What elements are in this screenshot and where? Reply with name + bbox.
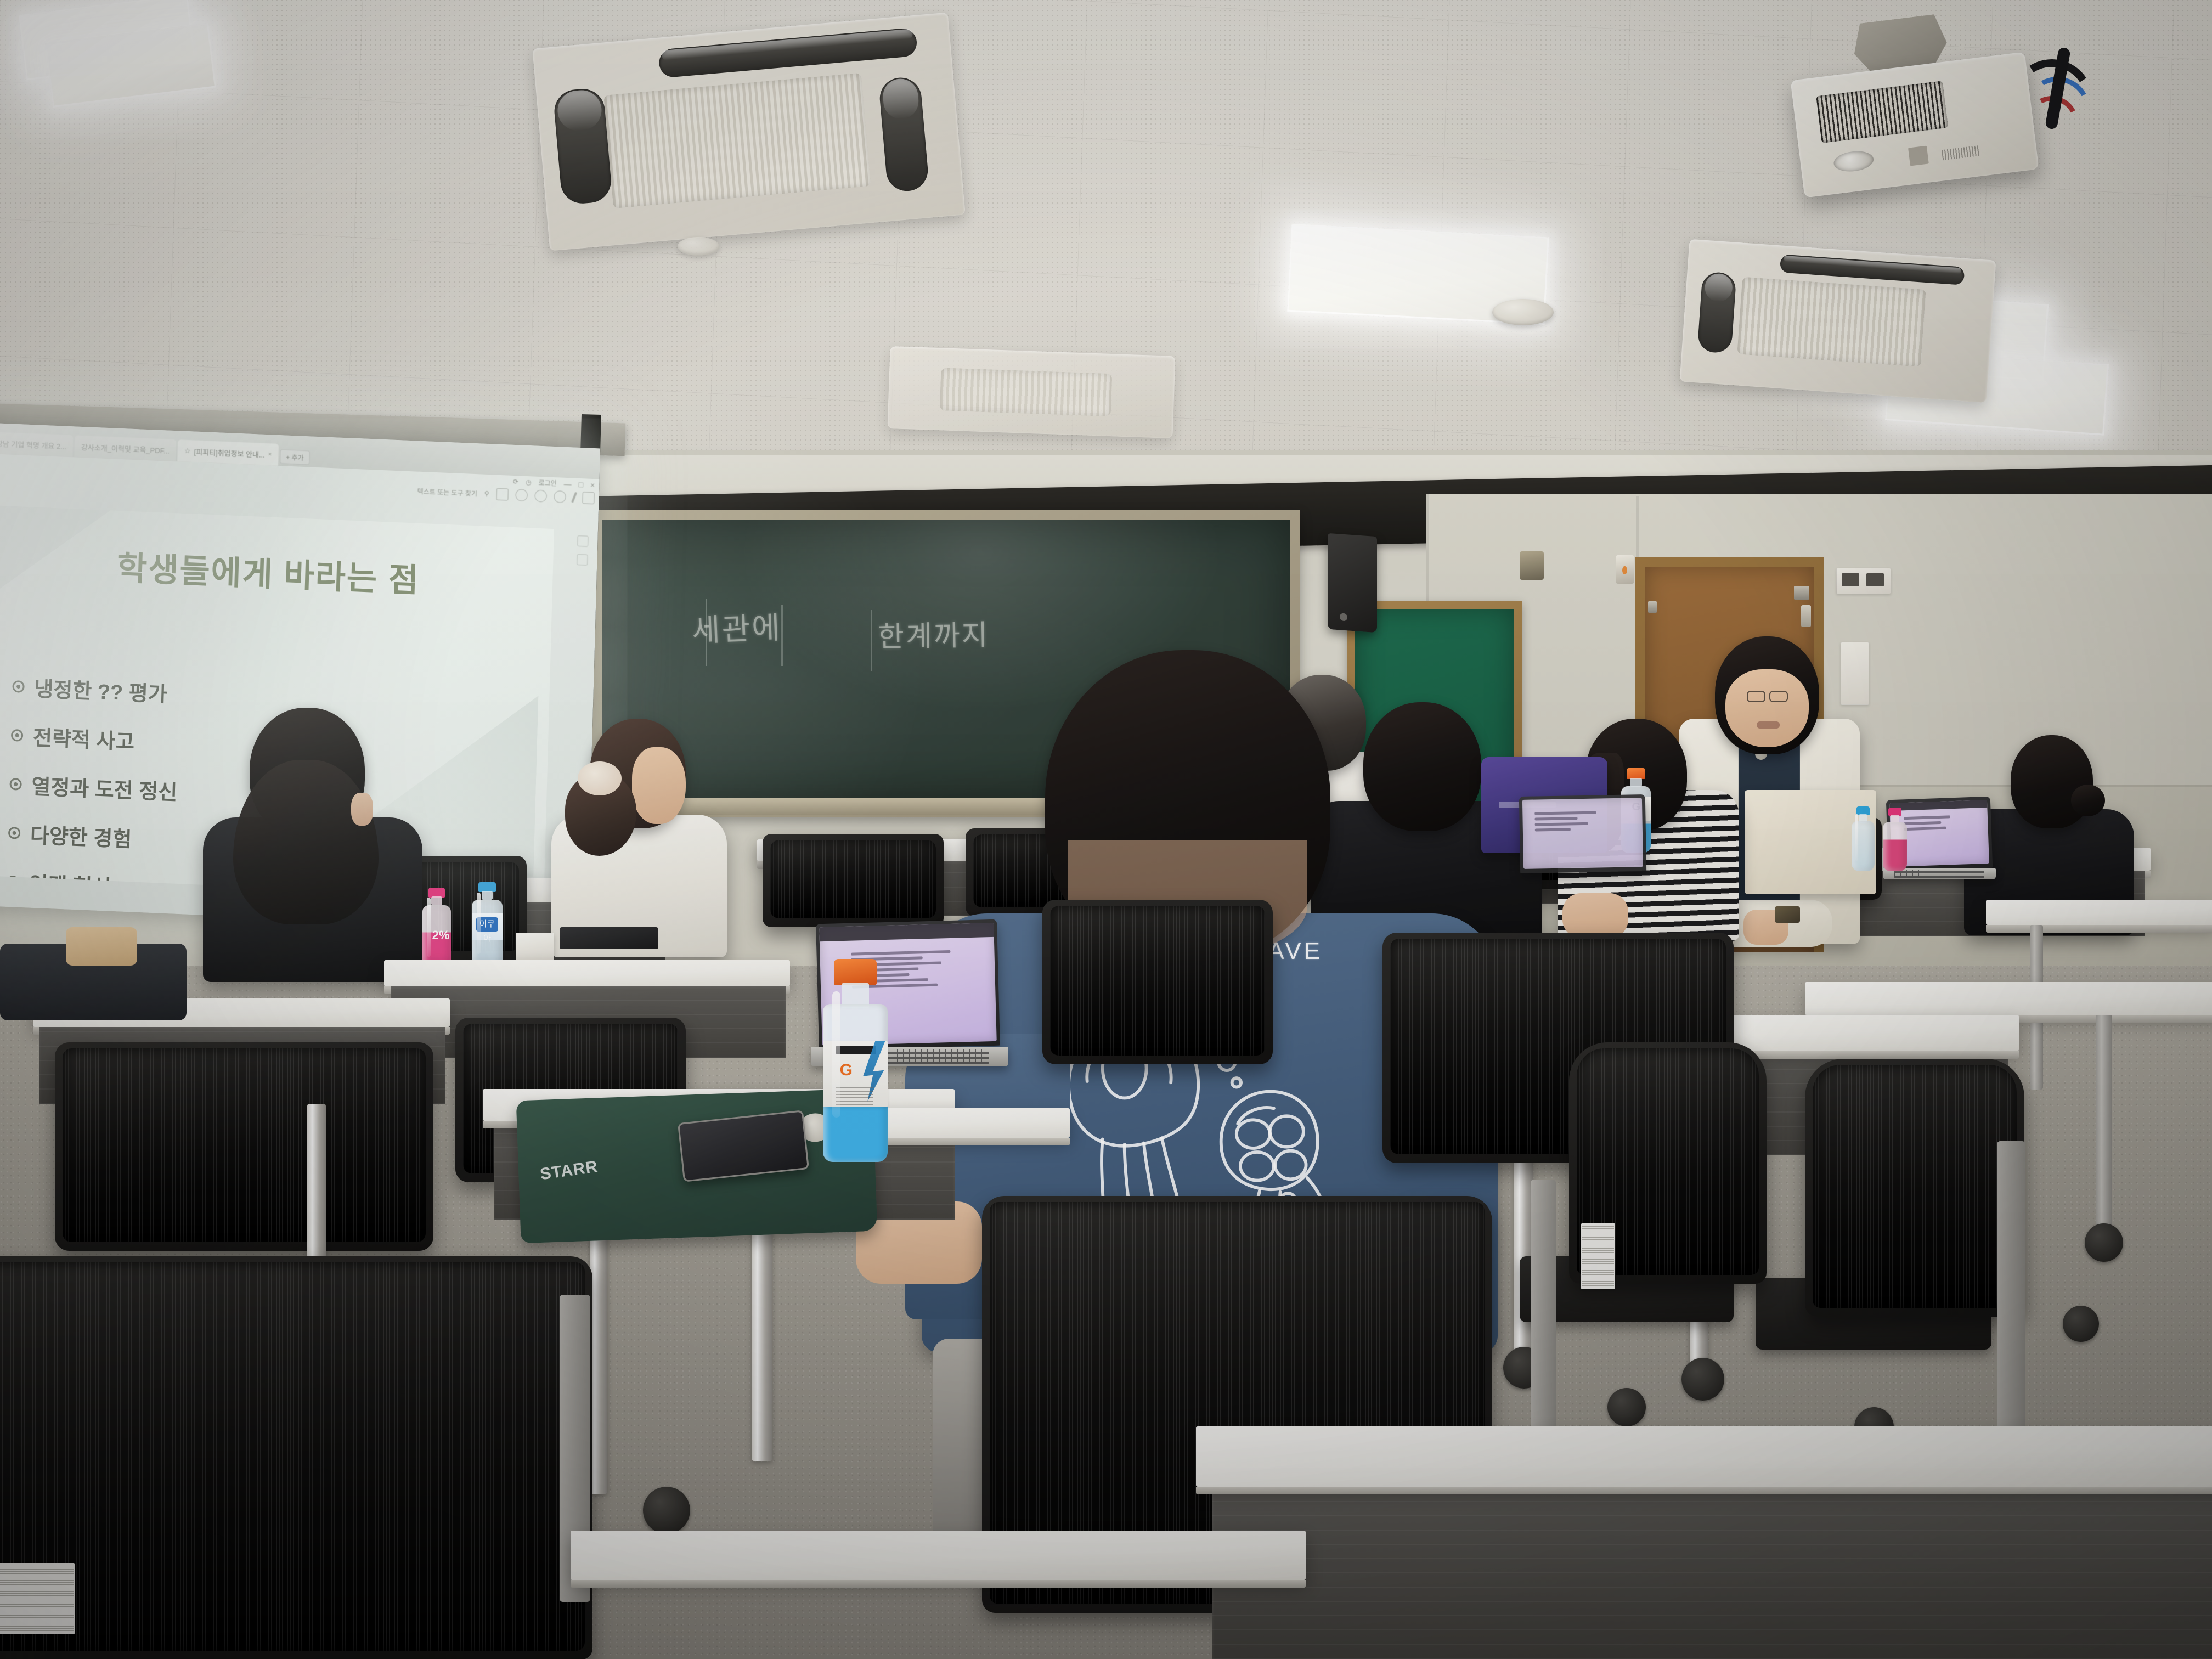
- chair-frame: [1997, 1141, 2025, 1448]
- close-icon[interactable]: ×: [268, 451, 272, 458]
- laptop-screen: [1522, 798, 1643, 869]
- ac-cassette-unit: [532, 13, 965, 251]
- app-tab[interactable]: 된장남 기업 혁명 개요 2...: [0, 431, 74, 457]
- chalk-note: 세관에: [691, 603, 782, 651]
- laptop[interactable]: [1519, 794, 1646, 873]
- app-toolbar: ⟳ ◷ 로그인 — □ × 텍스트 또는 도구 찾기 ⚲: [363, 471, 595, 528]
- ac-cassette-unit: [1680, 239, 1996, 403]
- slide-bullet: 전략적 사고: [10, 720, 179, 757]
- bullet-label: 냉정한 ?? 평가: [34, 672, 168, 708]
- bullet-dot-icon: [12, 680, 25, 693]
- student-left-white: [551, 719, 727, 949]
- bullet-dot-icon: [11, 729, 24, 741]
- chair[interactable]: [55, 1042, 433, 1251]
- tab-label: 된장남 기업 혁명 개요 2...: [0, 437, 66, 451]
- star-icon: ☆: [184, 447, 191, 455]
- search-input-label[interactable]: 텍스트 또는 도구 찾기: [417, 486, 477, 498]
- chair[interactable]: [1805, 1059, 2024, 1317]
- table: [571, 1531, 1306, 1580]
- ac-cassette-unit: [888, 346, 1176, 438]
- sign-in-label[interactable]: 로그인: [538, 478, 557, 488]
- image-icon[interactable]: [554, 490, 566, 503]
- note-icon[interactable]: [496, 488, 509, 501]
- pink-bottle: [1883, 808, 1907, 871]
- table: [1805, 982, 2212, 1015]
- bottle-label-text: 2%: [432, 928, 450, 943]
- chair-frame: [1531, 1180, 1556, 1443]
- chair[interactable]: [763, 834, 944, 927]
- maximize-button[interactable]: □: [578, 479, 583, 488]
- bullet-dot-icon: [9, 777, 22, 790]
- bullet-dot-icon: [8, 826, 21, 839]
- slide-title: 학생들에게 바라는 점: [0, 536, 553, 607]
- bullet-label: 인맥 형성: [29, 867, 112, 899]
- slide-bullet: 인맥 형성: [7, 866, 175, 899]
- sync-icon[interactable]: ⟳: [513, 477, 518, 485]
- table-leg: [2096, 1015, 2112, 1234]
- table-caster: [643, 1487, 690, 1534]
- door-closer-icon: [1801, 605, 1811, 627]
- history-icon[interactable]: ◷: [526, 478, 532, 486]
- closed-laptop: [560, 927, 658, 949]
- blue-water-bottle: 아쿠아: [472, 882, 503, 968]
- wall-speaker: [1328, 533, 1377, 633]
- slide-bullet: 냉정한 ?? 평가: [12, 671, 180, 708]
- clear-water-bottle: [1852, 806, 1875, 871]
- table: [1196, 1426, 2212, 1487]
- slide-bullet-list: 냉정한 ?? 평가 전략적 사고 열정과 도전 정신 다양한 경험 인맥 형성: [4, 671, 180, 899]
- bullet-label: 다양한 경험: [30, 819, 132, 853]
- comment-icon[interactable]: [577, 535, 589, 547]
- presenter-mouth: [1757, 721, 1780, 729]
- chair[interactable]: [1042, 900, 1273, 1064]
- chair-caster: [1607, 1388, 1646, 1426]
- bullet-dot-icon: [7, 875, 19, 888]
- paper-bag: [66, 927, 137, 966]
- track-spot-icon: [1616, 555, 1634, 584]
- bookmark-icon[interactable]: [577, 554, 588, 566]
- projector-lens-icon: [1833, 149, 1875, 174]
- table-modesty-panel: [1212, 1487, 2212, 1659]
- glasses-icon: [1715, 691, 1819, 701]
- app-tab-active[interactable]: ☆ [피피티]취업정보 안내... ×: [177, 439, 278, 466]
- table-caster: [2085, 1223, 2123, 1262]
- chair-caster: [2063, 1306, 2099, 1342]
- wristwatch: [1775, 906, 1800, 923]
- smoke-detector-icon: [678, 237, 719, 256]
- minimize-button[interactable]: —: [563, 479, 571, 488]
- hair-scrunchie: [578, 761, 622, 795]
- hair-bun: [2071, 785, 2105, 816]
- student-face: [632, 747, 686, 824]
- bullet-label: 전략적 사고: [32, 721, 135, 755]
- classroom-photo: 세관에 한계까지 된장남 기업 혁명 개요 2...: [0, 0, 2212, 1659]
- tab-label: [피피티]취업정보 안내...: [194, 446, 265, 459]
- shape-icon[interactable]: [515, 489, 528, 501]
- smoke-detector-icon: [1492, 299, 1554, 325]
- app-tab[interactable]: 강사소개_이력및 교육_PDF...: [74, 435, 176, 461]
- pink-2percent-bottle: 2%: [422, 888, 451, 970]
- slide-bullet: 열정과 도전 정신: [9, 769, 178, 806]
- student-left-black: [203, 708, 422, 971]
- table: [1986, 900, 2212, 925]
- chair[interactable]: [0, 1256, 592, 1659]
- stamp-icon[interactable]: [534, 490, 547, 503]
- close-button[interactable]: ×: [590, 480, 595, 489]
- add-tab-button[interactable]: + 추가: [280, 449, 310, 465]
- jacket-tag-text: STARR: [539, 1158, 599, 1184]
- chair-label: [0, 1563, 75, 1634]
- tab-label: 강사소개_이력및 교육_PDF...: [81, 441, 170, 455]
- student-cheek: [351, 793, 373, 826]
- student-forearm: [1562, 893, 1628, 938]
- chalk-note: 한계까지: [877, 612, 990, 655]
- outlet-plate[interactable]: [1836, 568, 1891, 594]
- search-icon[interactable]: ⚲: [484, 490, 489, 498]
- bullet-label: 열정과 도전 정신: [31, 770, 178, 806]
- chair-label: [1581, 1223, 1615, 1289]
- brand-mark: G: [840, 1061, 853, 1080]
- right-tool-rail: [571, 535, 592, 657]
- panel-icon[interactable]: [582, 492, 595, 504]
- slide-bullet: 다양한 경험: [8, 817, 176, 855]
- track-spot-icon: [1520, 551, 1544, 580]
- pen-icon[interactable]: [571, 492, 577, 503]
- gatorade-bottle-foreground: G: [823, 959, 888, 1162]
- table: [384, 960, 790, 986]
- small-box: [516, 933, 554, 961]
- table-caster: [1681, 1358, 1724, 1401]
